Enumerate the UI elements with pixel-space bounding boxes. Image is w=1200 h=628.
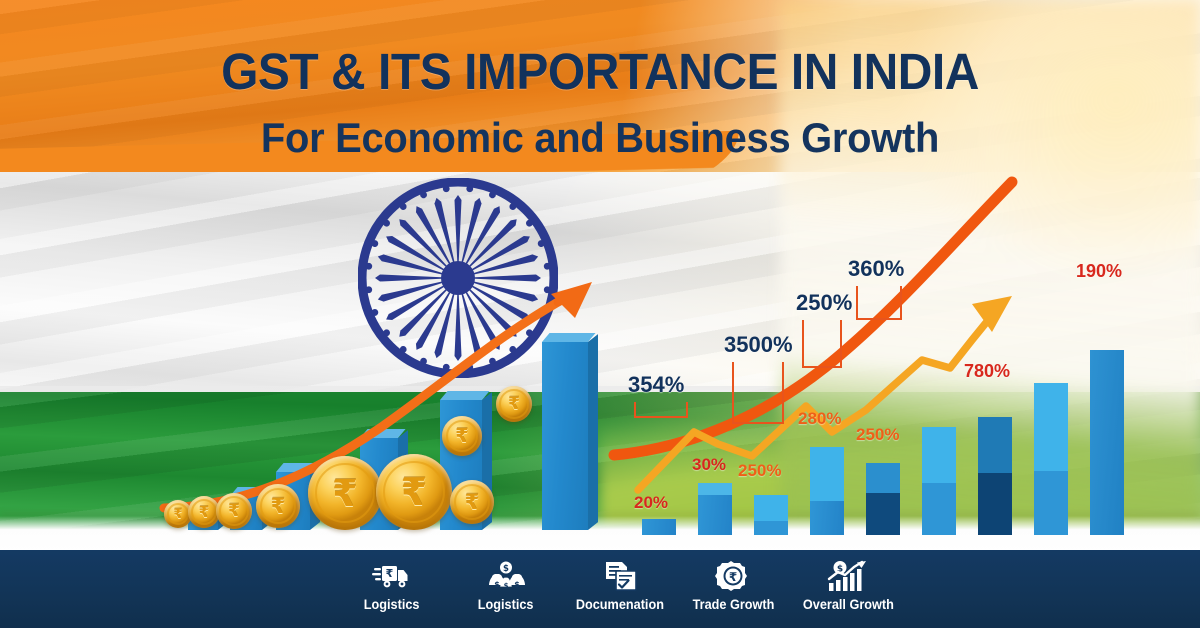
- bar-value-label: 20%: [634, 494, 668, 511]
- callout-label: 354%: [628, 374, 684, 396]
- footer-item-label: Overall Growth: [803, 597, 894, 612]
- callout-bracket: [732, 362, 784, 424]
- svg-text:₹: ₹: [729, 570, 737, 584]
- callout-label: 360%: [848, 258, 904, 280]
- page-subtitle: For Economic and Business Growth: [30, 114, 1170, 162]
- footer-item-logistics-truck[interactable]: ₹ Logistics: [340, 558, 444, 612]
- growth-bar-chart: 20% 30% 250% 280% 250% 780% 190% 354% 35…: [620, 250, 1020, 535]
- growth-chart-dollar-icon: $: [827, 558, 869, 594]
- footer-item-trade-growth[interactable]: ₹ Trade Growth: [682, 558, 786, 612]
- rupee-coin: ₹: [256, 484, 300, 528]
- rupee-coin: ₹: [496, 386, 532, 422]
- rupee-coin-trade-icon: ₹: [715, 558, 753, 594]
- callout-label: 3500%: [724, 334, 793, 356]
- svg-text:₹: ₹: [386, 567, 394, 580]
- footer-item-label: Documenation: [576, 597, 664, 612]
- rupee-coin: ₹: [376, 454, 452, 530]
- svg-text:$: $: [494, 580, 500, 589]
- rupee-coins-scene: ₹ ₹ ₹ ₹ ₹ ₹ ₹ ₹ ₹: [160, 280, 630, 530]
- svg-text:$: $: [514, 580, 520, 589]
- footer-item-overall-growth[interactable]: $ Overall Growth: [796, 558, 900, 612]
- bar-value-label: 190%: [1076, 262, 1122, 280]
- infographic-canvas: GST & ITS IMPORTANCE IN INDIA For Econom…: [0, 0, 1200, 628]
- documents-checklist-icon: [600, 558, 640, 594]
- money-bags-icon: $ $ $ $: [486, 558, 526, 594]
- bar-value-label: 280%: [798, 410, 841, 427]
- svg-text:$: $: [504, 582, 509, 590]
- footer-bar: ₹ Logistics $ $ $ $: [0, 550, 1200, 628]
- footer-items: ₹ Logistics $ $ $ $: [340, 550, 900, 628]
- rupee-coin: ₹: [442, 416, 482, 456]
- chart-bar: [754, 495, 788, 535]
- rupee-coin: ₹: [450, 480, 494, 524]
- chart-bar: [698, 483, 732, 535]
- rupee-coin: ₹: [308, 456, 382, 530]
- callout-label: 250%: [796, 292, 852, 314]
- footer-item-label: Logistics: [364, 597, 420, 612]
- callout-bracket: [634, 402, 688, 418]
- footer-item-label: Logistics: [478, 597, 534, 612]
- bar-value-label: 30%: [692, 456, 726, 473]
- footer-item-logistics-money[interactable]: $ $ $ $ Logistics: [454, 558, 558, 612]
- chart-bar: [1090, 350, 1124, 535]
- bar-value-label: 780%: [964, 362, 1010, 380]
- chart-bar: [642, 519, 676, 535]
- footer-item-documentation[interactable]: Documenation: [568, 558, 672, 612]
- callout-bracket: [802, 320, 842, 368]
- delivery-truck-rupee-icon: ₹: [372, 558, 412, 594]
- bar-value-label: 250%: [738, 462, 781, 479]
- chart-bar: [1034, 383, 1068, 535]
- page-title: GST & ITS IMPORTANCE IN INDIA: [36, 42, 1164, 101]
- bar-value-label: 250%: [856, 426, 899, 443]
- svg-text:$: $: [503, 564, 509, 574]
- callout-bracket: [856, 286, 902, 320]
- rupee-coin: ₹: [216, 493, 252, 529]
- footer-item-label: Trade Growth: [693, 597, 775, 612]
